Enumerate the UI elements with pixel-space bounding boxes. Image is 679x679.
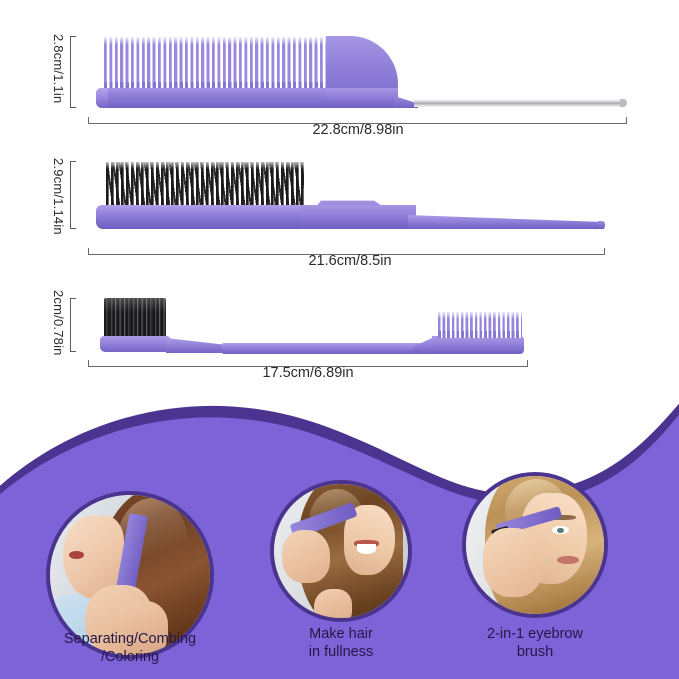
usage-caption-3: 2-in-1 eyebrow brush <box>430 625 640 661</box>
photo-hand <box>282 530 330 584</box>
comb-teeth-highlight <box>104 37 332 45</box>
height-bracket-product-1 <box>70 36 76 108</box>
usage-scenarios-panel: Separating/Combing /Coloring Make hair i… <box>0 370 679 679</box>
metal-pintail <box>414 99 626 107</box>
usage-caption-2: Make hair in fullness <box>236 625 446 661</box>
length-label-product-1: 22.8cm/8.98in <box>258 122 458 138</box>
brush-pointed-tail <box>408 215 604 229</box>
height-label-product-2: 2.9cm/1.14in <box>51 158 66 235</box>
length-label-product-2: 21.6cm/8.5in <box>250 253 450 269</box>
edge-brush-neck <box>166 338 226 353</box>
fine-comb-teeth-highlight <box>438 312 522 319</box>
comb-end-cap <box>96 88 108 108</box>
photo-lips <box>69 551 83 559</box>
fine-comb-body <box>432 336 524 354</box>
usage-photo-make-hair-in-fullness <box>270 480 412 622</box>
edge-brush-ferrule <box>100 336 170 352</box>
product-dimensions-section: 2.8cm/1.1in 22.8cm/8.98in 2.9cm/1.14in <box>0 0 679 400</box>
metal-pintail-tip <box>620 99 627 107</box>
photo-hand <box>483 528 544 597</box>
brush-handle-body <box>300 205 416 229</box>
photo-second-hand <box>314 589 352 622</box>
brush-base <box>96 205 314 229</box>
height-bracket-product-2 <box>70 161 76 229</box>
photo-smile <box>357 544 376 553</box>
edge-brush-handle <box>222 343 440 354</box>
height-label-product-1: 2.8cm/1.1in <box>51 34 66 103</box>
comb-handle-base <box>326 88 398 108</box>
comb-spine <box>96 88 334 108</box>
height-label-product-3: 2cm/0.78in <box>51 290 66 356</box>
fine-comb-teeth-base <box>438 331 522 338</box>
height-bracket-product-3 <box>70 298 76 352</box>
usage-photo-two-in-one-eyebrow-brush <box>462 472 608 618</box>
brush-tail-tip <box>598 221 605 229</box>
edge-brush-bristles-highlight <box>104 298 166 312</box>
usage-caption-1: Separating/Combing /Coloring <box>25 630 235 666</box>
brush-bristles-highlight <box>106 162 304 169</box>
